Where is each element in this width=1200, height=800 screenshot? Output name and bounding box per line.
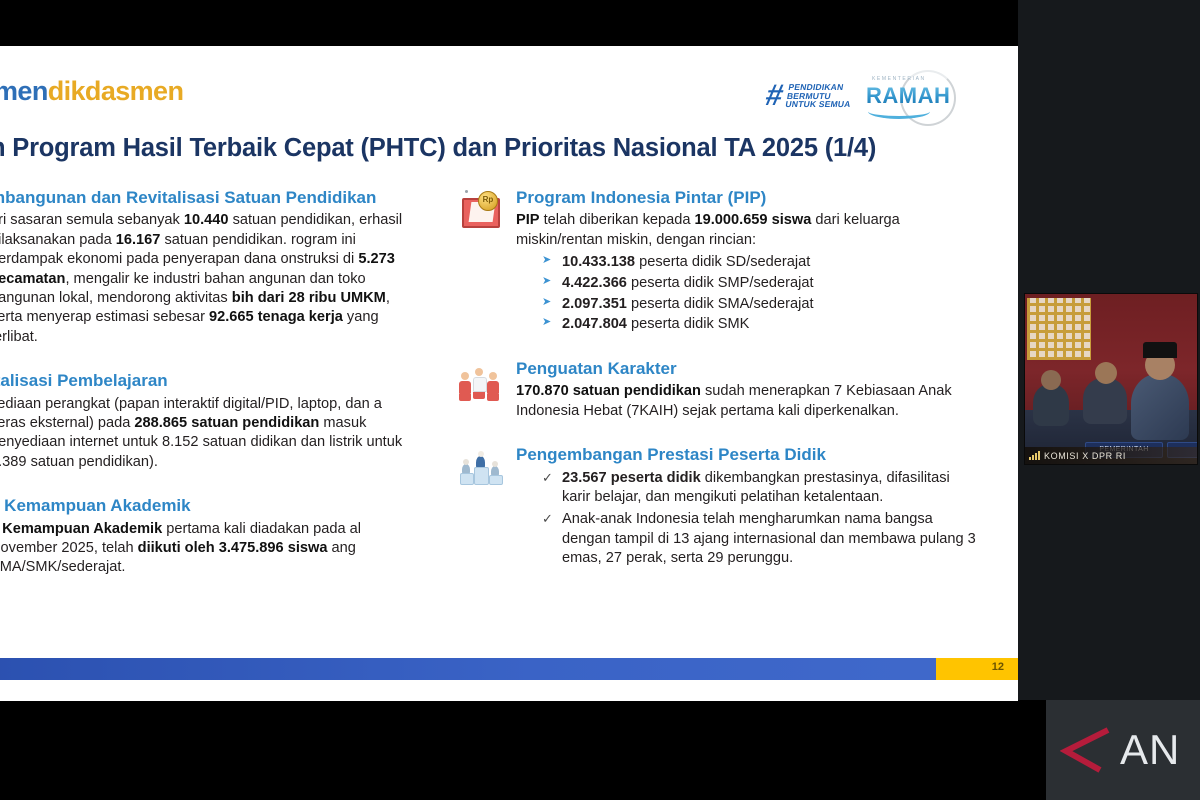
block-body: yediaan perangkat (papan interaktif digi… (0, 395, 420, 473)
checklist: 23.567 peserta didik dikembangkan presta… (516, 469, 978, 569)
attendee-left (1033, 384, 1069, 426)
letterbox-bottom (0, 700, 1200, 800)
list-item: 4.422.366 peserta didik SMP/sederajat (542, 274, 978, 294)
emphasis-text: 2.097.351 (562, 296, 627, 312)
brand-text-secondary: dikdasmen (48, 76, 184, 106)
emphasis-text: 4.422.366 (562, 275, 627, 291)
content-block: Penguatan Karakter170.870 satuan pendidi… (458, 359, 978, 421)
emphasis-text: 19.000.659 siswa (695, 212, 812, 228)
content-block: mbangunan dan Revitalisasi Satuan Pendid… (0, 188, 420, 347)
content-block: s Kemampuan Akademiks Kemampuan Akademik… (0, 496, 420, 578)
content-block: RpProgram Indonesia Pintar (PIP)PIP tela… (458, 188, 978, 335)
list-item: 2.047.804 peserta didik SMK (542, 315, 978, 335)
list-item: Anak-anak Indonesia telah mengharumkan n… (542, 510, 978, 569)
slide-content-area: mendikdasmen # PENDIDIKAN BERMUTU UNTUK … (0, 46, 1018, 658)
speaker-minister (1131, 374, 1189, 440)
block-body: ari sasaran semula sebanyak 10.440 satua… (0, 211, 420, 347)
footer-bar-fill (0, 658, 1018, 680)
attendee-left-head (1041, 370, 1061, 390)
emphasis-text: 288.865 satuan pendidikan (134, 415, 319, 431)
slide-footer-bar: 12 (0, 658, 1018, 680)
ramah-logo: KEMENTERIAN RAMAH (866, 68, 962, 124)
list-item: 2.097.351 peserta didik SMA/sederajat (542, 295, 978, 315)
block-heading: Program Indonesia Pintar (PIP) (516, 188, 978, 208)
emphasis-text: PIP (516, 212, 540, 228)
slide-bottom-margin (0, 680, 1018, 701)
antara-triangle-icon (1060, 726, 1112, 774)
emphasis-text: 2.047.804 (562, 316, 627, 332)
emphasis-text: 92.665 tenaga kerja (209, 309, 343, 325)
bullet-list: 10.433.138 peserta didik SD/sederajat4.4… (516, 253, 978, 335)
brand-text-primary: men (0, 76, 48, 106)
signal-bars-icon (1029, 451, 1040, 460)
block-heading: Penguatan Karakter (516, 359, 978, 379)
emphasis-text: 170.870 satuan pendidikan (516, 383, 701, 399)
emphasis-text: bih dari 28 ribu UMKM (232, 290, 386, 306)
page-number: 12 (992, 661, 1004, 673)
right-column: RpProgram Indonesia Pintar (PIP)PIP tela… (458, 188, 978, 593)
hashtag-icon: # (763, 81, 786, 111)
antara-watermark: AN (1046, 700, 1200, 800)
content-block: italisasi Pembelajaranyediaan perangkat … (0, 371, 420, 472)
emphasis-text: 10.433.138 (562, 254, 635, 270)
block-body: s Kemampuan Akademik pertama kali diadak… (0, 520, 420, 578)
block-body: 170.870 satuan pendidikan sudah menerapk… (516, 382, 978, 421)
video-thumbnail[interactable]: PEMERINTAH KOMISI X DPR RI (1024, 293, 1198, 465)
list-item: 10.433.138 peserta didik SD/sederajat (542, 253, 978, 273)
body-text: telah diberikan kepada (540, 212, 695, 228)
attendee-middle (1083, 378, 1127, 424)
presentation-slide: mendikdasmen # PENDIDIKAN BERMUTU UNTUK … (0, 46, 1018, 701)
schoolchildren-icon (458, 361, 504, 403)
emphasis-text: 16.167 (116, 232, 161, 248)
page-number-chip: 12 (936, 658, 1018, 680)
emphasis-text: 10.440 (184, 212, 229, 228)
list-item: 23.567 peserta didik dikembangkan presta… (542, 469, 978, 508)
attendee-middle-head (1095, 362, 1117, 384)
block-heading: Pengembangan Prestasi Peserta Didik (516, 445, 978, 465)
ramah-tagline: KEMENTERIAN (872, 76, 926, 82)
wall-lattice-decor (1027, 298, 1091, 360)
slide-logos: # PENDIDIKAN BERMUTU UNTUK SEMUA KEMENTE… (766, 68, 962, 124)
money-book-icon: Rp (458, 190, 504, 232)
block-heading: italisasi Pembelajaran (0, 371, 420, 391)
broadcast-caption: KOMISI X DPR RI (1025, 447, 1197, 464)
block-body: PIP telah diberikan kepada 19.000.659 si… (516, 211, 978, 250)
emphasis-text: diikuti oleh 3.475.896 siswa (138, 540, 328, 556)
content-block: Pengembangan Prestasi Peserta Didik23.56… (458, 445, 978, 569)
emphasis-text: s Kemampuan Akademik (0, 521, 162, 537)
slide-title: n Program Hasil Terbaik Cepat (PHTC) dan… (0, 134, 980, 163)
block-heading: s Kemampuan Akademik (0, 496, 420, 516)
kemendikdasmen-logo: mendikdasmen (0, 76, 183, 107)
left-column: mbangunan dan Revitalisasi Satuan Pendid… (0, 188, 420, 602)
songkok-cap-icon (1143, 342, 1177, 358)
block-heading: mbangunan dan Revitalisasi Satuan Pendid… (0, 188, 420, 208)
screen: mendikdasmen # PENDIDIKAN BERMUTU UNTUK … (0, 0, 1200, 800)
pendidikan-bermutu-logo: # PENDIDIKAN BERMUTU UNTUK SEMUA (766, 81, 852, 111)
body-text: ari sasaran semula sebanyak (0, 212, 184, 228)
podium-winners-icon (458, 447, 504, 489)
antara-wordmark: AN (1120, 729, 1180, 771)
pbus-line-3: UNTUK SEMUA (785, 100, 852, 109)
ramah-swoosh-icon (868, 104, 930, 119)
broadcast-caption-text: KOMISI X DPR RI (1044, 451, 1126, 461)
emphasis-text: 23.567 peserta didik (562, 470, 701, 486)
